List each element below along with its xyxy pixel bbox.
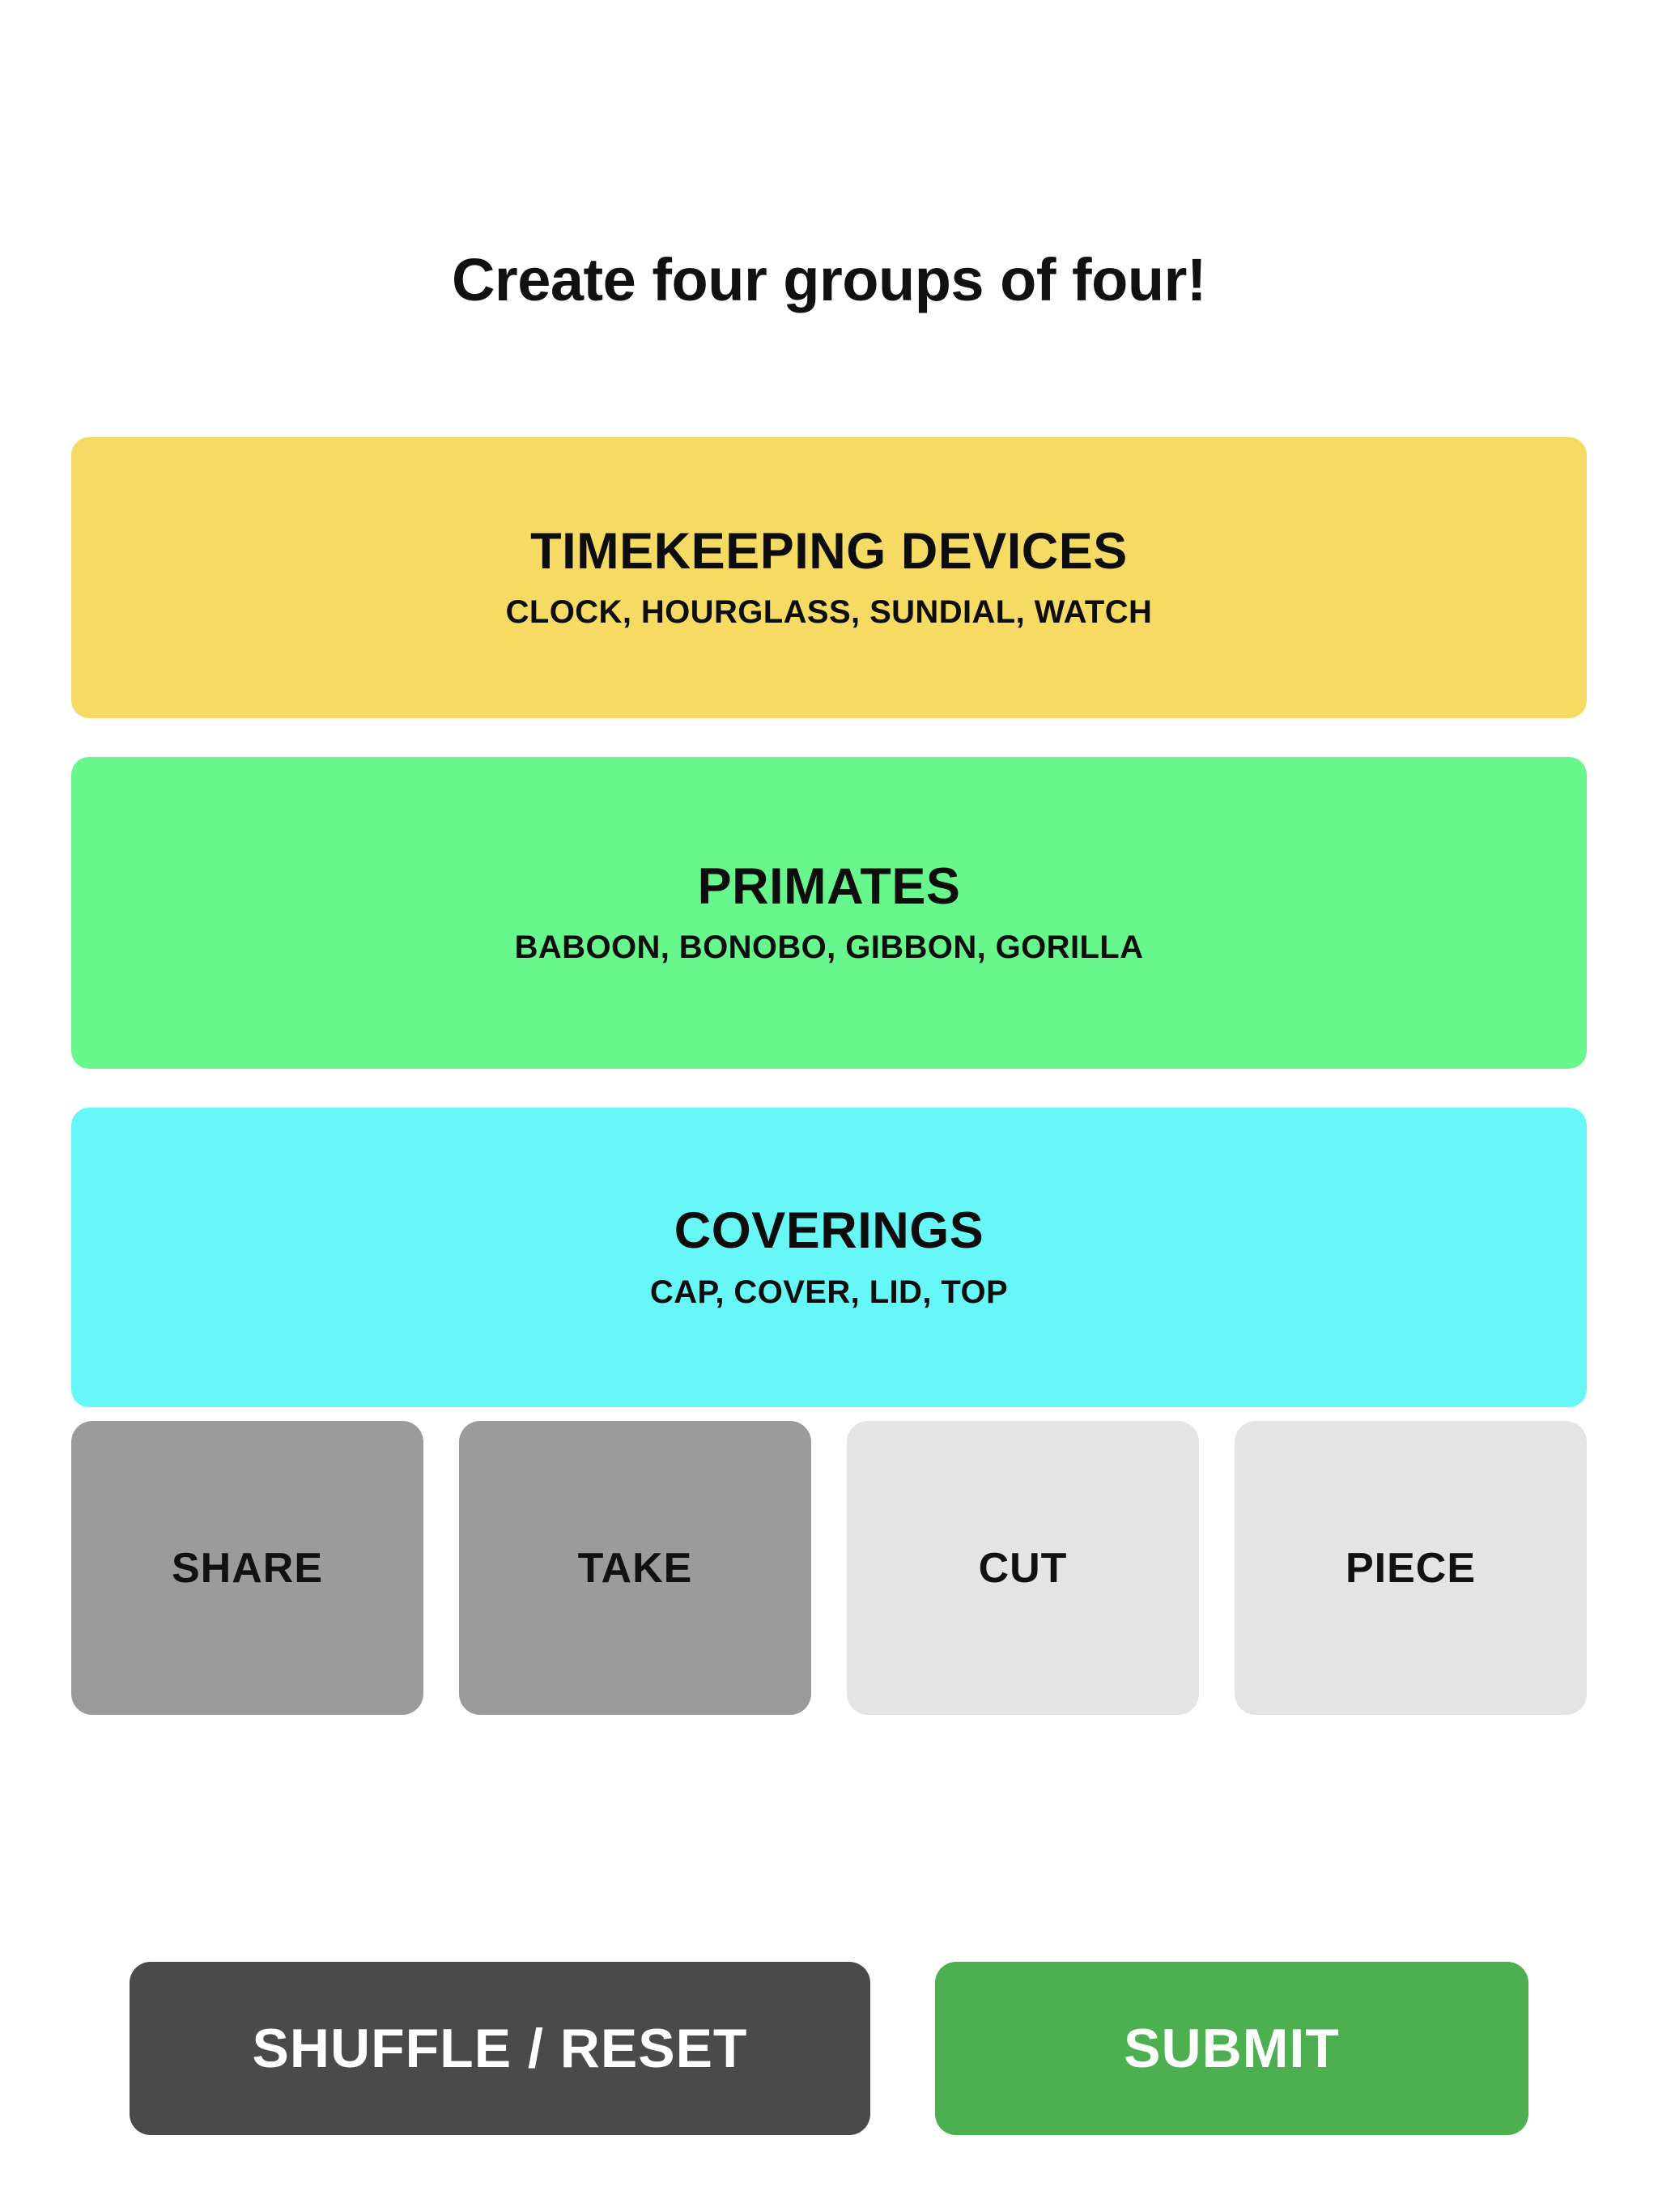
solved-group-members: CAP, COVER, LID, TOP <box>650 1274 1008 1311</box>
solved-group-yellow: TIMEKEEPING DEVICES CLOCK, HOURGLASS, SU… <box>71 437 1587 718</box>
solved-group-members: BABOON, BONOBO, GIBBON, GORILLA <box>515 929 1144 966</box>
word-tile-piece[interactable]: PIECE <box>1235 1421 1587 1715</box>
connections-game: Create four groups of four! TIMEKEEPING … <box>0 0 1658 2212</box>
solved-group-green: PRIMATES BABOON, BONOBO, GIBBON, GORILLA <box>71 757 1587 1069</box>
solved-group-members: CLOCK, HOURGLASS, SUNDIAL, WATCH <box>506 594 1153 631</box>
solved-groups-container: TIMEKEEPING DEVICES CLOCK, HOURGLASS, SU… <box>71 437 1587 1407</box>
word-tile-cut[interactable]: CUT <box>847 1421 1199 1715</box>
solved-group-blue: COVERINGS CAP, COVER, LID, TOP <box>71 1108 1587 1407</box>
word-tile-share[interactable]: SHARE <box>71 1421 423 1715</box>
solved-group-category: COVERINGS <box>674 1204 984 1257</box>
submit-button[interactable]: SUBMIT <box>935 1962 1528 2135</box>
page-title: Create four groups of four! <box>0 247 1658 313</box>
action-bar: SHUFFLE / RESET SUBMIT <box>0 1962 1658 2135</box>
word-tile-take[interactable]: TAKE <box>459 1421 811 1715</box>
solved-group-category: TIMEKEEPING DEVICES <box>530 525 1128 578</box>
shuffle-reset-button[interactable]: SHUFFLE / RESET <box>130 1962 870 2135</box>
word-tile-grid: SHARE TAKE CUT PIECE <box>71 1421 1587 1715</box>
solved-group-category: PRIMATES <box>698 860 961 913</box>
